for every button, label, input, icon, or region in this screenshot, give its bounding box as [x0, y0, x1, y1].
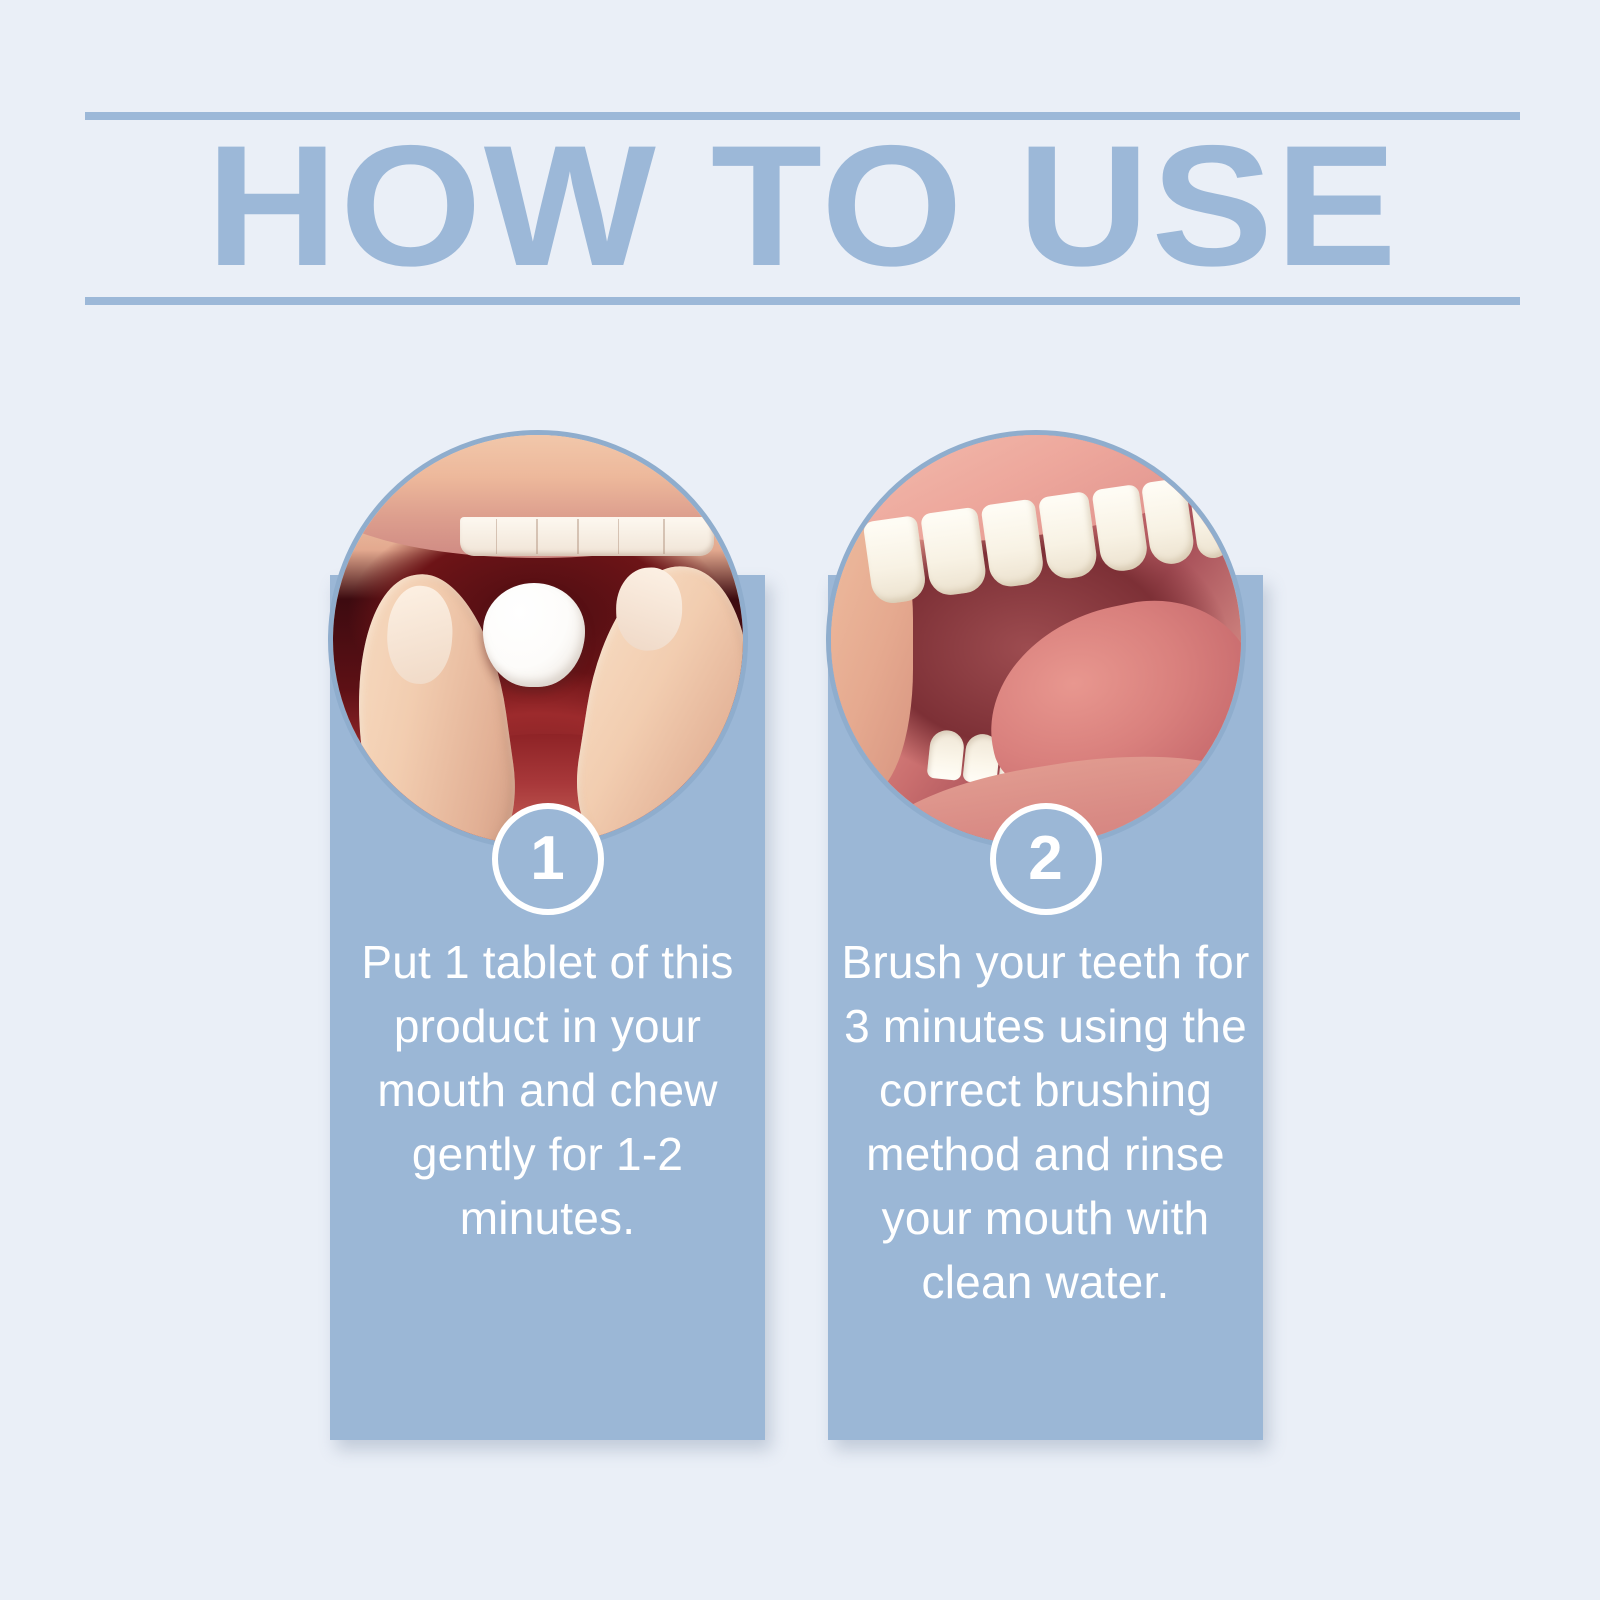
step-caption-2: Brush your teeth for 3 minutes using the…	[840, 930, 1251, 1314]
finger-right	[565, 555, 748, 850]
step-number-badge-2: 2	[990, 803, 1102, 915]
steps-container: 1 Put 1 tablet of this product in your m…	[0, 0, 1600, 1600]
upper-teeth	[460, 517, 714, 556]
mouth-photo-1	[333, 435, 743, 845]
white-tablet	[483, 583, 586, 688]
step-caption-1: Put 1 tablet of this product in your mou…	[342, 930, 753, 1250]
mouth-photo-2	[831, 435, 1241, 845]
step-image-1	[328, 430, 748, 850]
step-number-badge-1: 1	[492, 803, 604, 915]
step-image-2	[826, 430, 1246, 850]
